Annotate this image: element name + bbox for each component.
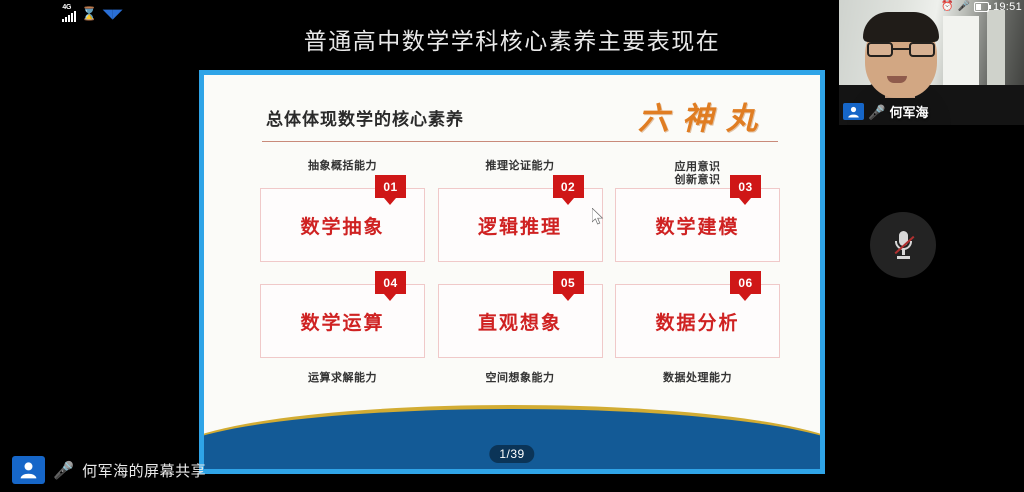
zoom-meeting-screen: 4G ⌛ ◥◤ 普通高中数学学科核心素养主要表现在 总体体现数学的核心素养 六神… bbox=[0, 0, 1024, 492]
card-cell-03: 03 数学建模 bbox=[615, 188, 780, 262]
microphone-icon: 🎤 bbox=[53, 462, 74, 479]
top-label-3-line1: 应用意识 bbox=[615, 160, 780, 173]
card-title: 数学抽象 bbox=[300, 212, 384, 239]
grid-row-top-labels: 抽象概括能力 推理论证能力 应用意识 创新意识 bbox=[260, 159, 780, 188]
bottom-cell-05: 空间想象能力 bbox=[438, 358, 603, 385]
bottom-label-3: 数据处理能力 bbox=[615, 358, 780, 385]
screen-share-label: 何军海的屏幕共享 bbox=[82, 460, 206, 481]
video-tile[interactable]: ⏰ 🎤 19:51 🎤 何军海 bbox=[839, 0, 1024, 125]
participant-name: 何军海 bbox=[889, 102, 928, 121]
microphone-icon: 🎤 bbox=[958, 2, 970, 12]
shared-screen-stage: 普通高中数学学科核心素养主要表现在 总体体现数学的核心素养 六神丸 抽象概括能力 bbox=[185, 0, 839, 492]
slide-header: 总体体现数学的核心素养 六神丸 bbox=[266, 97, 774, 139]
competency-card[interactable]: 06 数据分析 bbox=[615, 284, 780, 358]
card-title: 数据分析 bbox=[655, 308, 739, 335]
card-number-badge: 03 bbox=[730, 175, 761, 198]
battery-icon bbox=[974, 2, 989, 12]
card-title: 逻辑推理 bbox=[478, 212, 562, 239]
screen-share-bar[interactable]: 🎤 何军海的屏幕共享 bbox=[12, 456, 206, 484]
competency-card[interactable]: 03 数学建模 bbox=[615, 188, 780, 262]
bottom-cell-04: 运算求解能力 bbox=[260, 358, 425, 385]
card-title: 直观想象 bbox=[478, 308, 562, 335]
slide-frame: 总体体现数学的核心素养 六神丸 抽象概括能力 推理论证能力 bbox=[199, 70, 825, 474]
clock-label: 19:51 bbox=[993, 1, 1022, 13]
page-indicator: 1/39 bbox=[489, 445, 534, 463]
mute-button[interactable] bbox=[870, 212, 936, 278]
right-panel: ⏰ 🎤 19:51 🎤 何军海 bbox=[839, 0, 1024, 492]
competency-grid: 抽象概括能力 推理论证能力 应用意识 创新意识 bbox=[260, 159, 780, 385]
card-number-badge: 06 bbox=[730, 271, 761, 294]
hourglass-icon: ⌛ bbox=[81, 7, 97, 20]
grid-row-bottom-labels: 运算求解能力 空间想象能力 数据处理能力 bbox=[260, 358, 780, 385]
competency-card[interactable]: 01 数学抽象 bbox=[260, 188, 425, 262]
card-title: 数学运算 bbox=[300, 308, 384, 335]
network-type-label: 4G bbox=[62, 4, 71, 11]
card-title: 数学建模 bbox=[655, 212, 739, 239]
bottom-label-1: 运算求解能力 bbox=[260, 358, 425, 385]
competency-card[interactable]: 04 数学运算 bbox=[260, 284, 425, 358]
alarm-clock-icon: ⏰ bbox=[941, 2, 953, 12]
card-number-badge: 01 bbox=[375, 175, 406, 198]
phone-status-bar: 4G ⌛ ◥◤ bbox=[0, 0, 185, 26]
signal-bars-icon: 4G bbox=[62, 4, 76, 22]
mouse-cursor-icon bbox=[592, 208, 604, 225]
microphone-muted-icon bbox=[895, 231, 912, 259]
page-title: 普通高中数学学科核心素养主要表现在 bbox=[185, 22, 839, 56]
slide-canvas: 总体体现数学的核心素养 六神丸 抽象概括能力 推理论证能力 bbox=[204, 75, 820, 469]
grid-row-2: 04 数学运算 05 直观想象 06 bbox=[260, 284, 780, 358]
card-cell-05: 05 直观想象 bbox=[438, 284, 603, 358]
microphone-icon: 🎤 bbox=[868, 105, 885, 119]
card-number-badge: 05 bbox=[553, 271, 584, 294]
person-icon bbox=[12, 456, 45, 484]
slide-header-calligraphy: 六神丸 bbox=[638, 93, 770, 138]
person-icon bbox=[843, 103, 864, 120]
header-divider bbox=[262, 141, 778, 142]
participant-glasses bbox=[867, 42, 935, 57]
card-cell-01: 01 数学抽象 bbox=[260, 188, 425, 262]
grid-spacer bbox=[260, 262, 780, 284]
card-number-badge: 04 bbox=[375, 271, 406, 294]
participant-hair bbox=[863, 12, 939, 42]
card-cell-04: 04 数学运算 bbox=[260, 284, 425, 358]
competency-card[interactable]: 05 直观想象 bbox=[438, 284, 603, 358]
card-cell-02: 02 逻辑推理 bbox=[438, 188, 603, 262]
blue-app-icon: ◥◤ bbox=[103, 7, 123, 20]
grid-row-1: 01 数学抽象 02 逻辑推理 03 bbox=[260, 188, 780, 262]
card-number-badge: 02 bbox=[553, 175, 584, 198]
video-status-overlay: ⏰ 🎤 19:51 bbox=[941, 1, 1022, 13]
bottom-cell-06: 数据处理能力 bbox=[615, 358, 780, 385]
competency-card[interactable]: 02 逻辑推理 bbox=[438, 188, 603, 262]
slide-header-left: 总体体现数学的核心素养 bbox=[266, 105, 464, 130]
bottom-label-2: 空间想象能力 bbox=[438, 358, 603, 385]
card-cell-06: 06 数据分析 bbox=[615, 284, 780, 358]
participant-name-bar: 🎤 何军海 bbox=[843, 102, 928, 121]
